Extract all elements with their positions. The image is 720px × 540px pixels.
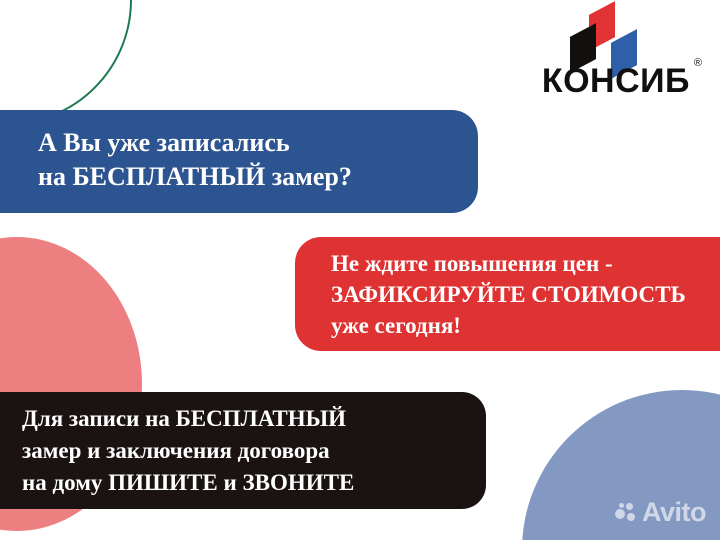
contact-banner-black: Для записи на БЕСПЛАТНЫЙ замер и заключе…	[0, 392, 486, 509]
contact-black-line-3: на дому ПИШИТЕ и ЗВОНИТЕ	[22, 467, 486, 499]
avito-dot-tiny-icon	[619, 503, 624, 508]
headline-blue-line-2: на БЕСПЛАТНЫЙ замер?	[38, 160, 478, 194]
headline-blue-line-1: А Вы уже записались	[38, 126, 478, 160]
contact-black-line-2: замер и заключения договора	[22, 435, 486, 467]
offer-banner-red: Не ждите повышения цен - ЗАФИКСИРУЙТЕ СТ…	[295, 237, 720, 351]
logo-wordmark: КОНСИБ	[542, 64, 690, 98]
avito-wordmark: Avito	[642, 499, 706, 526]
offer-red-line-2: ЗАФИКСИРУЙТЕ СТОИМОСТЬ	[331, 279, 720, 310]
logo-mark-icon	[566, 6, 644, 68]
advertisement-poster: КОНСИБ ® А Вы уже записались на БЕСПЛАТН…	[0, 0, 720, 540]
offer-red-line-1: Не ждите повышения цен -	[331, 248, 720, 279]
contact-black-line-1: Для записи на БЕСПЛАТНЫЙ	[22, 403, 486, 435]
avito-dot-small-icon	[627, 513, 635, 521]
avito-watermark: Avito	[615, 499, 706, 526]
headline-banner-blue: А Вы уже записались на БЕСПЛАТНЫЙ замер?	[0, 110, 478, 213]
avito-dot-medium-icon	[626, 503, 633, 510]
konsib-logo: КОНСИБ ®	[522, 6, 702, 102]
registered-trademark-icon: ®	[694, 58, 702, 69]
offer-red-line-3: уже сегодня!	[331, 310, 720, 341]
avito-dot-large-icon	[615, 509, 625, 519]
avito-dots-icon	[615, 503, 637, 523]
green-ring-decoration	[0, 0, 132, 125]
